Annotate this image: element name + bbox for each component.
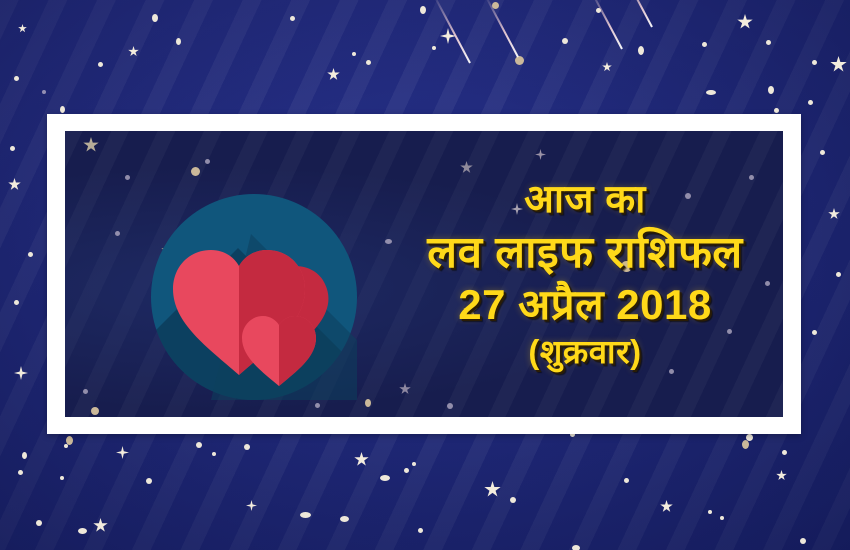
- sparkle-dot: [176, 38, 181, 45]
- sparkle-dot: [562, 38, 568, 44]
- sparkle-dot: [18, 470, 23, 475]
- sparkle-dot: [800, 538, 806, 544]
- sparkle-dot: [638, 46, 644, 55]
- sparkle-dot: [196, 442, 202, 448]
- sparkle-dot: [808, 100, 813, 105]
- sparkle-dot: [742, 440, 749, 449]
- sparkle-dot: [36, 520, 42, 526]
- sparkle-dot: [706, 90, 716, 95]
- sparkle-dot: [708, 510, 712, 514]
- sparkle-dot: [366, 60, 371, 65]
- sparkle-dot: [91, 407, 99, 415]
- sparkle-dot: [768, 86, 774, 94]
- sparkle-dot: [365, 399, 371, 407]
- sparkle-dot: [385, 239, 392, 244]
- sparkle-dot: [412, 462, 416, 466]
- sparkle-dot: [352, 52, 356, 56]
- sparkle-dot: [720, 516, 724, 520]
- sparkle-dot: [300, 512, 311, 518]
- sparkle-dot: [766, 40, 771, 45]
- sparkle-dot: [812, 330, 817, 335]
- sparkle-dot: [191, 167, 200, 176]
- headline-line-1: आज का: [524, 179, 646, 221]
- sparkle-dot: [510, 497, 516, 503]
- two-hearts-icon: [151, 194, 357, 400]
- sparkle-dot: [125, 175, 130, 180]
- white-frame-border: आज का लव लाइफ राशिफल 27 अप्रैल 2018 (शुक…: [47, 114, 801, 434]
- sparkle-dot: [98, 62, 103, 67]
- sparkle-dot: [380, 475, 390, 481]
- sparkle-dot: [782, 450, 787, 455]
- headline-text-block: आज का लव लाइफ राशिफल 27 अप्रैल 2018 (शुक…: [395, 131, 775, 417]
- sparkle-dot: [290, 16, 295, 21]
- sparkle-dot: [812, 60, 817, 65]
- sparkle-dot: [432, 46, 436, 50]
- sparkle-dot: [244, 444, 250, 450]
- poster-inner-panel: आज का लव लाइफ राशिफल 27 अप्रैल 2018 (शुक…: [65, 131, 783, 417]
- headline-line-2: लव लाइफ राशिफल: [427, 229, 742, 277]
- sparkle-dot: [146, 478, 152, 484]
- sparkle-dot: [10, 146, 15, 151]
- sparkle-dot: [315, 403, 320, 408]
- sparkle-dot: [774, 108, 779, 113]
- sparkle-dot: [702, 42, 707, 47]
- sparkle-dot: [340, 516, 349, 522]
- sparkle-dot: [28, 252, 33, 257]
- sparkle-dot: [572, 545, 580, 550]
- sparkle-dot: [42, 90, 46, 94]
- sparkle-dot: [152, 14, 158, 22]
- headline-date-line: 27 अप्रैल 2018: [458, 282, 711, 327]
- sparkle-dot: [14, 76, 19, 81]
- sparkle-dot: [83, 389, 88, 394]
- sparkle-dot: [404, 468, 409, 473]
- two-hearts-logo: [151, 194, 357, 400]
- sparkle-dot: [22, 452, 27, 459]
- love-horoscope-banner: आज का लव लाइफ राशिफल 27 अप्रैल 2018 (शुक…: [0, 0, 850, 550]
- headline-weekday-line: (शुक्रवार): [528, 334, 641, 370]
- sparkle-dot: [14, 300, 19, 305]
- sparkle-dot: [60, 106, 65, 113]
- sparkle-dot: [60, 476, 64, 480]
- sparkle-dot: [418, 528, 423, 533]
- sparkle-dot: [212, 452, 216, 456]
- sparkle-dot: [624, 478, 629, 483]
- sparkle-dot: [66, 436, 73, 445]
- sparkle-dot: [420, 6, 426, 14]
- sparkle-dot: [836, 272, 841, 277]
- sparkle-dot: [820, 150, 825, 155]
- sparkle-dot: [115, 231, 120, 236]
- sparkle-dot: [78, 528, 87, 534]
- sparkle-dot: [205, 159, 210, 164]
